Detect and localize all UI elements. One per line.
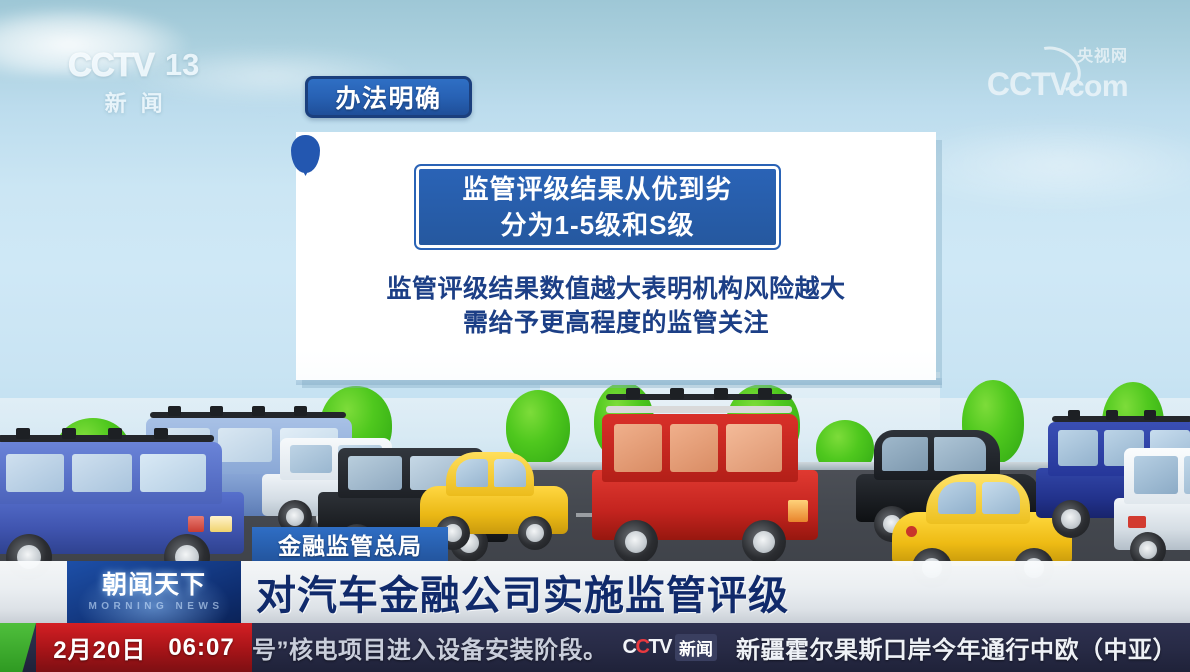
infographic-tag: 办法明确	[305, 76, 472, 118]
body-line-2: 需给予更高程度的监管关注	[310, 306, 922, 340]
ticker-logo-network: CCTV	[623, 636, 671, 659]
program-name-en: MORNING NEWS	[84, 601, 223, 612]
watermark-network: CCTV	[987, 66, 1070, 103]
car-red-suv	[592, 396, 828, 562]
program-name-cn: 朝闻天下	[102, 572, 206, 599]
car-white-suv-right	[1114, 440, 1190, 560]
watermark-cn-label: 央视网	[1077, 42, 1128, 66]
program-logo: 朝闻天下 MORNING NEWS	[67, 561, 241, 623]
channel-bug-subtitle: 新闻	[68, 86, 199, 118]
watermark-com: com	[1068, 70, 1128, 104]
headline-text: 对汽车金融公司实施监管评级	[256, 566, 789, 618]
broadcast-screenshot: CCTV 13 新闻 央视网 CCTV com 办法明确 监管评级结果从优到劣 …	[0, 0, 1190, 672]
ticker-content: 号”核电项目进入设备安装阶段。 CCTV 新闻 新疆霍尔果斯口岸今年通行中欧（中…	[252, 623, 1190, 672]
channel-bug-network: CCTV	[68, 46, 154, 84]
infographic-highlight-box: 监管评级结果从优到劣 分为1-5级和S级	[416, 166, 779, 248]
channel-bug-number: 13	[165, 47, 199, 83]
source-badge: 金融监管总局	[252, 527, 448, 561]
ticker-item-next: 新疆霍尔果斯口岸今年通行中欧（中亚）	[736, 630, 1177, 665]
ticker-item-partial: 号”核电项目进入设备安装阶段。	[252, 630, 608, 665]
channel-bug: CCTV 13 新闻	[68, 46, 199, 118]
highlight-line-2: 分为1-5级和S级	[501, 207, 695, 243]
cctv-com-watermark: 央视网 CCTV com	[910, 42, 1128, 104]
ticker-logo-label: 新闻	[675, 634, 717, 661]
infographic-tag-label: 办法明确	[335, 79, 441, 115]
source-badge-label: 金融监管总局	[278, 527, 422, 561]
ticker-date-label: 2月20日	[53, 630, 146, 665]
ticker-datetime: 2月20日 06:07	[36, 623, 252, 672]
ticker-time-label: 06:07	[168, 634, 234, 662]
highlight-line-1: 监管评级结果从优到劣	[462, 171, 732, 207]
cctv-news-logo: CCTV 新闻	[621, 633, 723, 662]
car-blue-suv-left	[0, 430, 254, 566]
infographic-body: 监管评级结果数值越大表明机构风险越大 需给予更高程度的监管关注	[310, 272, 922, 340]
body-line-1: 监管评级结果数值越大表明机构风险越大	[310, 272, 922, 306]
